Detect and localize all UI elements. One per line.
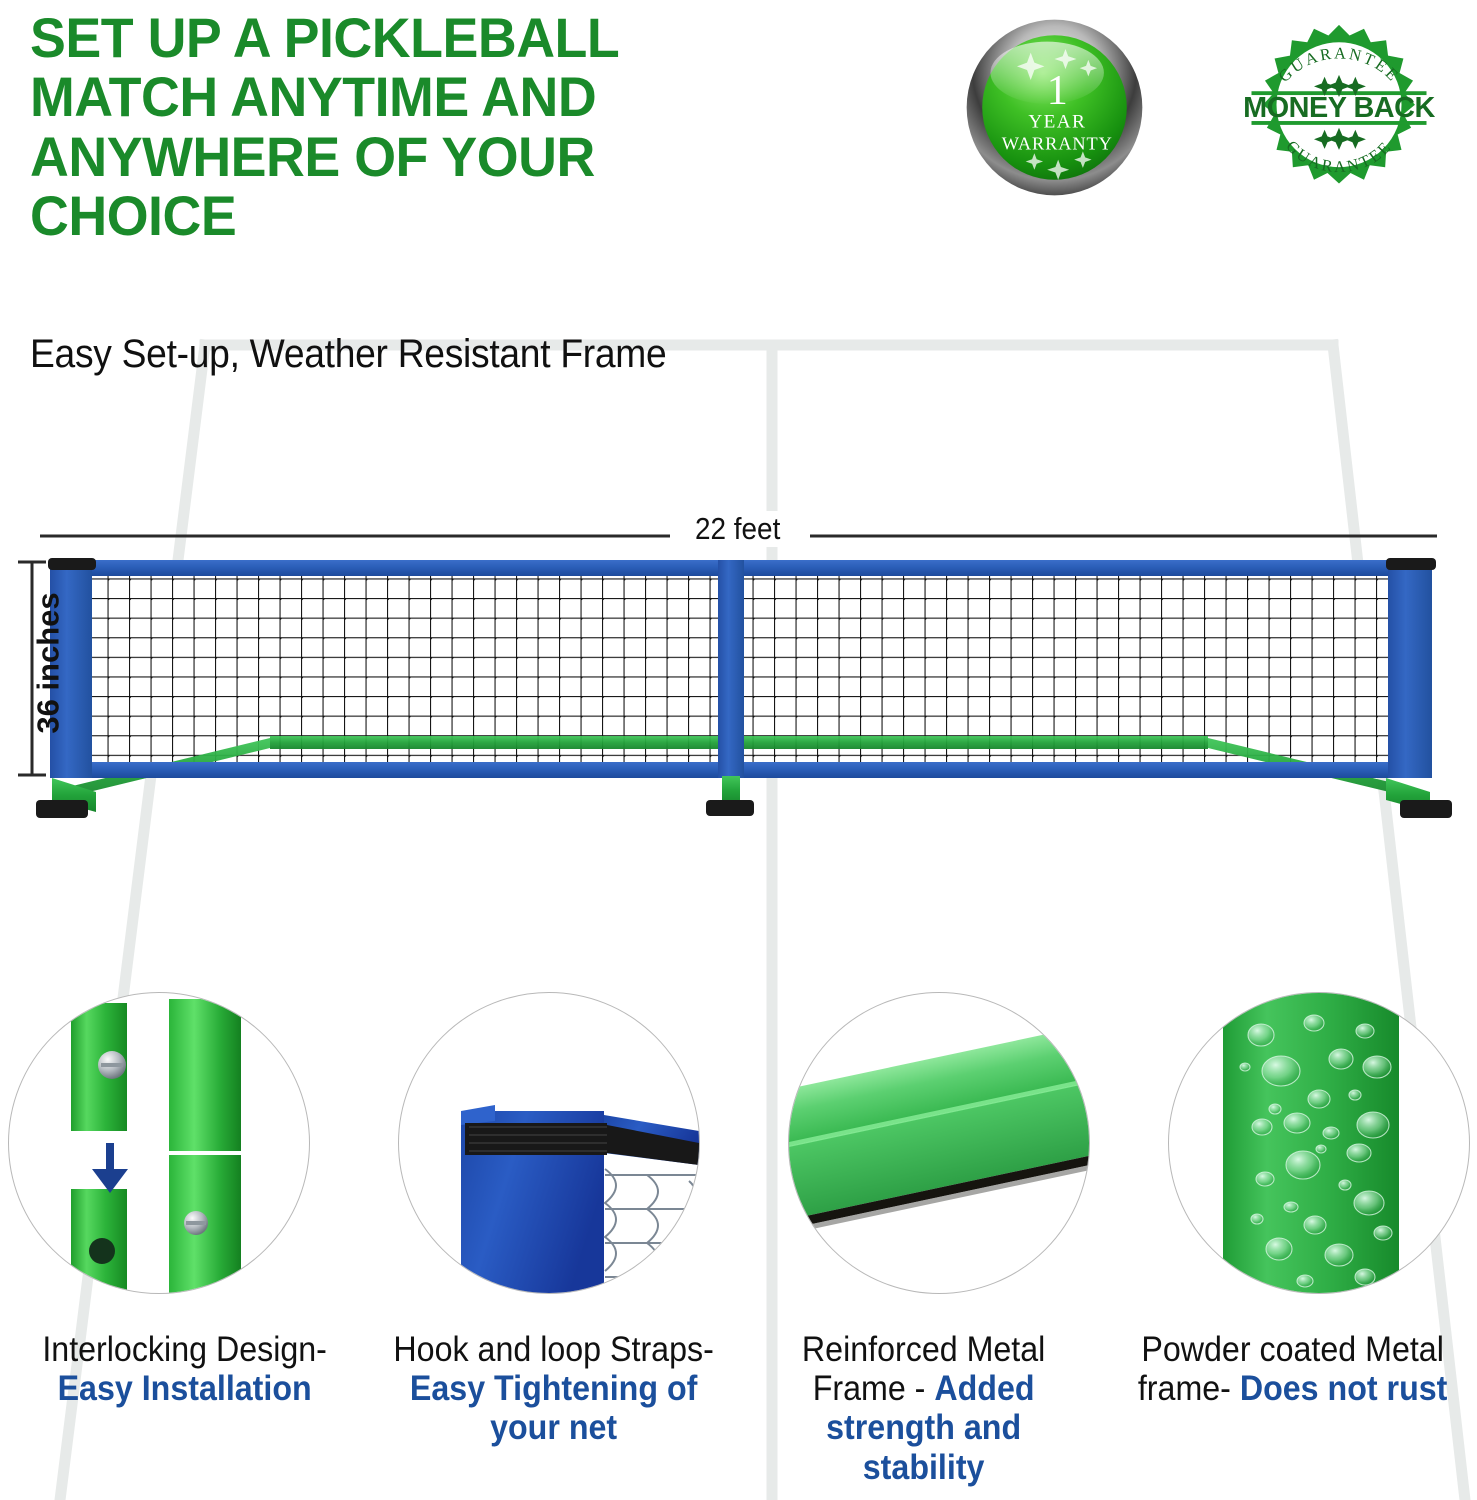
warranty-word: WARRANTY <box>1002 134 1113 154</box>
water-droplet-pole-icon <box>1168 992 1470 1294</box>
net-right-panel <box>1386 558 1436 778</box>
feature-caption-1: Interlocking Design- Easy Installation <box>15 1330 355 1500</box>
feature-4-bold: Does not rust <box>1240 1369 1448 1408</box>
metal-bar-icon <box>788 992 1090 1294</box>
net-legs <box>36 776 1452 818</box>
feature-2-bold: Easy Tightening of your net <box>410 1369 697 1447</box>
height-dimension-label: 36 inches <box>31 592 67 733</box>
feature-1-bold: Easy Installation <box>58 1369 312 1408</box>
net-center-post <box>718 560 744 778</box>
velcro-strap-icon <box>398 992 700 1294</box>
warranty-year: YEAR <box>1028 112 1086 133</box>
page-subtitle: Easy Set-up, Weather Resistant Frame <box>30 332 666 377</box>
pickleball-net-illustration <box>0 500 1477 850</box>
feature-caption-row: Interlocking Design- Easy Installation H… <box>0 1330 1477 1500</box>
feature-1-plain: Interlocking Design- <box>42 1330 327 1369</box>
money-back-badge: MONEY BACK GUARANTEE GUARANTEE <box>1228 22 1450 197</box>
width-dimension-label: 22 feet <box>686 511 789 547</box>
warranty-badge: 1 YEAR WARRANTY <box>963 16 1146 199</box>
feature-caption-3: Reinforced Metal Frame - Added strength … <box>753 1330 1093 1500</box>
feature-caption-2: Hook and loop Straps- Easy Tightening of… <box>384 1330 724 1500</box>
page-title: SET UP A PICKLEBALL MATCH ANYTIME AND AN… <box>30 8 798 245</box>
money-back-label: MONEY BACK <box>1243 92 1435 124</box>
feature-2-plain: Hook and loop Straps- <box>394 1330 714 1369</box>
warranty-number: 1 <box>1047 67 1068 114</box>
down-arrow-icon <box>92 1143 128 1193</box>
interlocking-pole-icon <box>8 992 310 1294</box>
feature-photo-row <box>0 990 1477 1300</box>
feature-caption-4: Powder coated Metal frame- Does not rust <box>1123 1330 1463 1500</box>
